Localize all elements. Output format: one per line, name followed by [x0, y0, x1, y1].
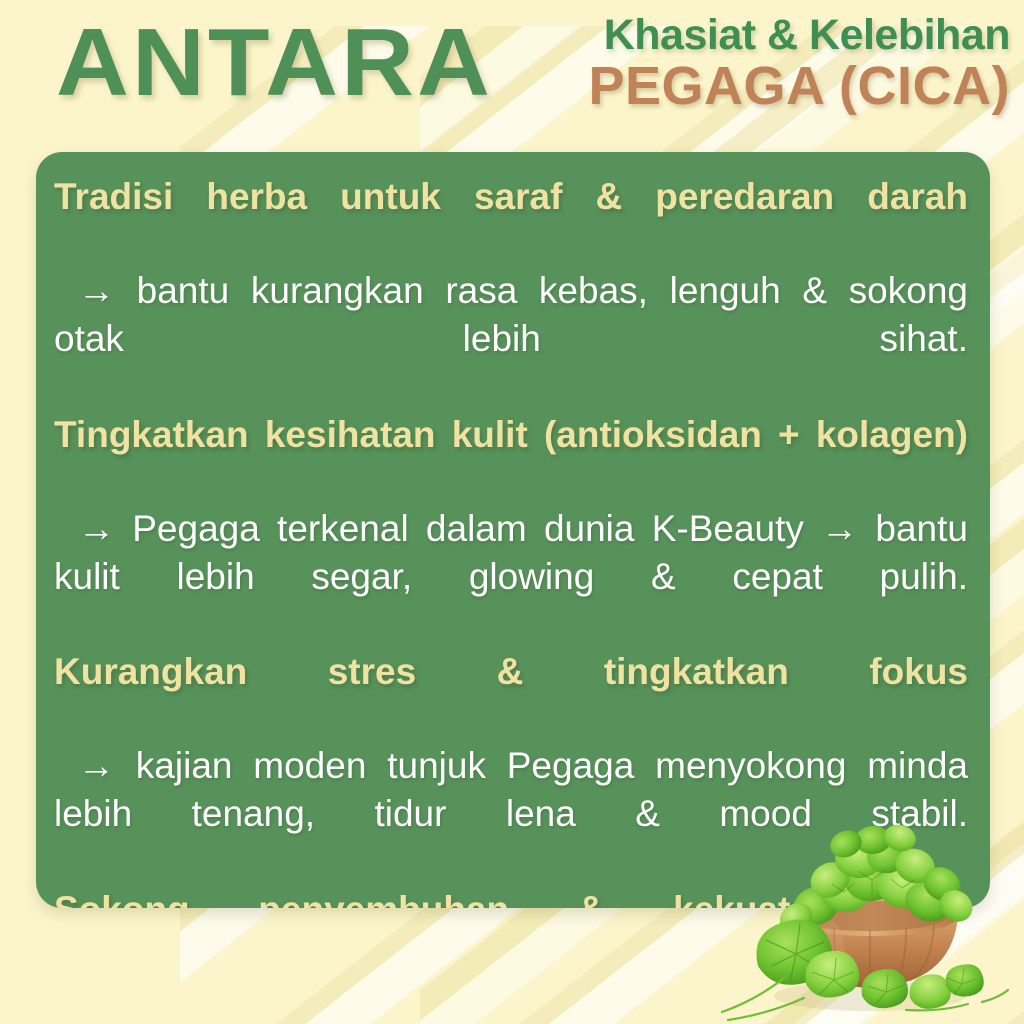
- benefit-heading-3: Kurangkan stres & tingkatkan fokus: [54, 649, 968, 742]
- benefits-card: Tradisi herba untuk saraf & peredaran da…: [36, 152, 990, 908]
- benefit-heading-1: Tradisi herba untuk saraf & peredaran da…: [54, 174, 968, 267]
- benefit-body-2: → Pegaga terkenal dalam dunia K-Beauty →…: [54, 505, 968, 649]
- poster-header: ANTARA Khasiat & Kelebihan PEGAGA (CICA): [0, 10, 1024, 128]
- benefit-body-1: → bantu kurangkan rasa kebas, lenguh & s…: [54, 267, 968, 411]
- benefit-section-1: Tradisi herba untuk saraf & peredaran da…: [54, 174, 968, 412]
- poster-canvas: ANTARA Khasiat & Kelebihan PEGAGA (CICA)…: [0, 0, 1024, 1024]
- benefit-section-4: Sokong penyembuhan & kekuatan tisu → sec…: [54, 887, 968, 909]
- header-subtitles: Khasiat & Kelebihan PEGAGA (CICA): [472, 14, 1010, 114]
- brand-title: ANTARA: [56, 16, 493, 110]
- subtitle-pegaga: PEGAGA (CICA): [589, 59, 1011, 114]
- subtitle-khasiat: Khasiat & Kelebihan: [604, 14, 1010, 57]
- benefit-section-3: Kurangkan stres & tingkatkan fokus → kaj…: [54, 649, 968, 887]
- benefits-card-content: Tradisi herba untuk saraf & peredaran da…: [36, 152, 990, 908]
- benefit-body-3: → kajian moden tunjuk Pegaga menyokong m…: [54, 742, 968, 886]
- benefit-section-2: Tingkatkan kesihatan kulit (antioksidan …: [54, 412, 968, 650]
- benefit-heading-4: Sokong penyembuhan & kekuatan tisu: [54, 887, 968, 909]
- benefit-heading-2: Tingkatkan kesihatan kulit (antioksidan …: [54, 412, 968, 505]
